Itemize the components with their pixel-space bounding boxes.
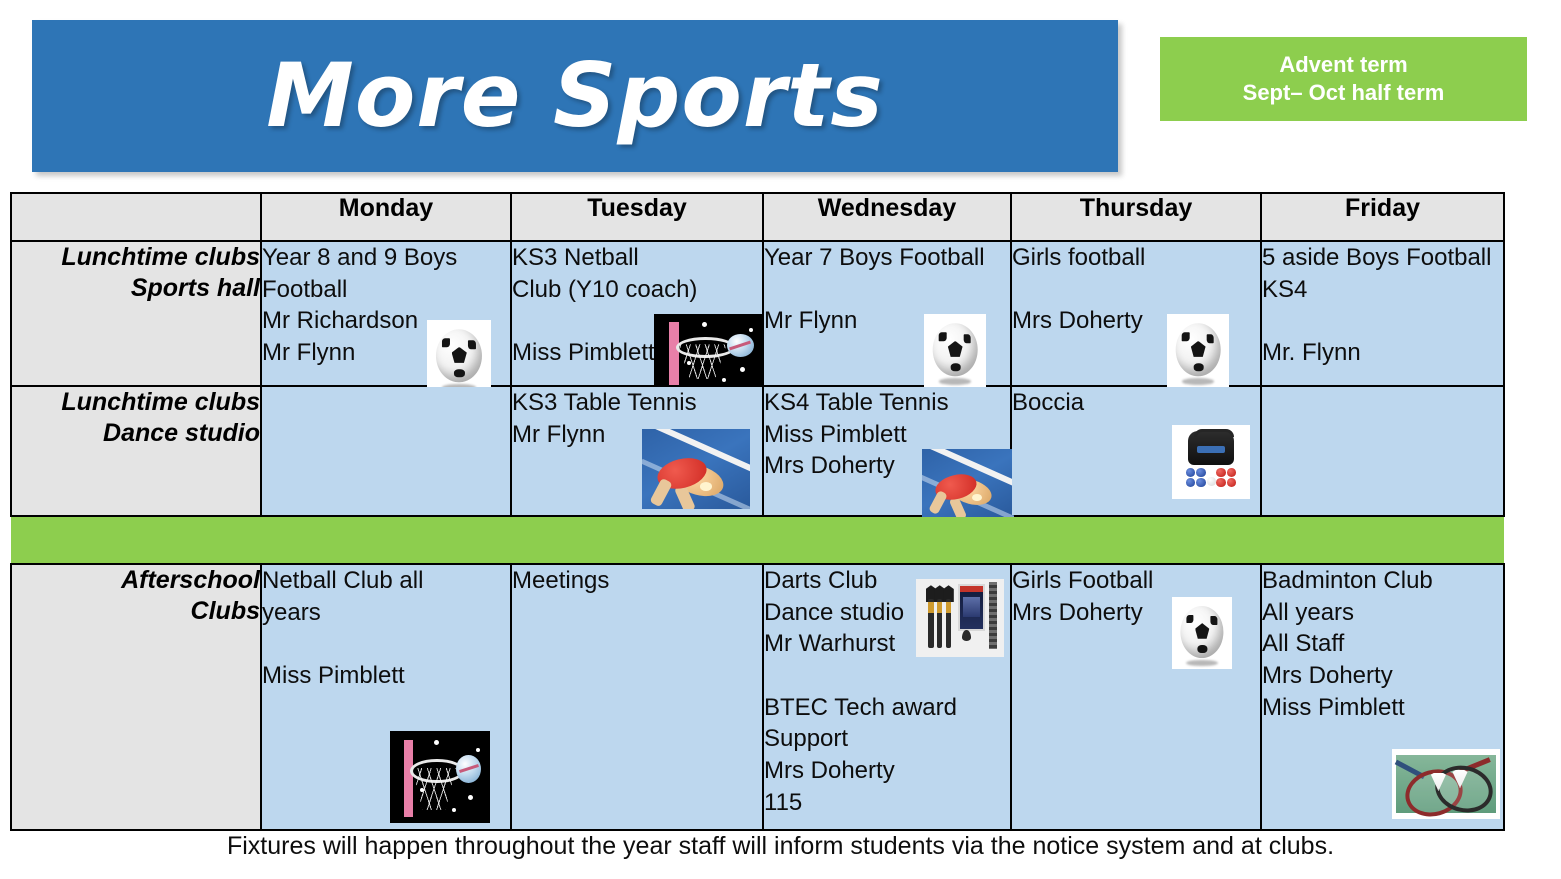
cell-monday-dance-studio[interactable]	[261, 386, 511, 516]
cell-monday-afterschool[interactable]: Netball Club all years Miss Pimblett	[261, 564, 511, 830]
cell-text-line: 115	[764, 787, 1010, 819]
cell-text-line: Football	[262, 274, 510, 306]
cell-wednesday-dance-studio[interactable]: KS4 Table Tennis Miss Pimblett Mrs Doher…	[763, 386, 1011, 516]
cell-text-line: KS3 Table Tennis	[512, 387, 762, 419]
schedule-table: Monday Tuesday Wednesday Thursday Friday…	[10, 192, 1505, 831]
row-label-line-2: Dance studio	[12, 418, 260, 449]
cell-text-line: Miss Pimblett	[1262, 692, 1503, 724]
cell-text-line: Miss Pimblett	[262, 660, 510, 692]
soccer-ball-image	[1167, 314, 1229, 388]
cell-text-line: Mr. Flynn	[1262, 337, 1503, 369]
cell-text-line: Year 7 Boys Football	[764, 242, 1010, 274]
badminton-image	[1392, 749, 1500, 819]
term-badge: Advent term Sept– Oct half term	[1160, 37, 1527, 121]
green-divider-cell	[11, 516, 1504, 564]
cell-text-line: All years	[1262, 597, 1503, 629]
cell-tuesday-dance-studio[interactable]: KS3 Table Tennis Mr Flynn	[511, 386, 763, 516]
darts-set-image	[916, 579, 1004, 657]
cell-text-line: BTEC Tech award	[764, 692, 1010, 724]
cell-friday-dance-studio[interactable]	[1261, 386, 1504, 516]
table-header-row: Monday Tuesday Wednesday Thursday Friday	[11, 193, 1504, 241]
cell-text-line: Club (Y10 coach)	[512, 274, 762, 306]
cell-tuesday-afterschool[interactable]: Meetings	[511, 564, 763, 830]
row-label-line-1: Lunchtime clubs	[12, 242, 260, 273]
table-row: Afterschool Clubs Netball Club all years…	[11, 564, 1504, 830]
cell-text-line: Mrs Doherty	[764, 755, 1010, 787]
cell-text-line: Girls football	[1012, 242, 1260, 274]
table-row: Lunchtime clubs Sports hall Year 8 and 9…	[11, 241, 1504, 386]
column-header-monday: Monday	[261, 193, 511, 241]
column-header-thursday: Thursday	[1011, 193, 1261, 241]
page-title: More Sports	[266, 52, 883, 140]
term-badge-line-1: Advent term	[1279, 53, 1407, 77]
row-label-afterschool-clubs: Afterschool Clubs	[11, 564, 261, 830]
cell-text-line: Mrs Doherty	[1262, 660, 1503, 692]
table-tennis-image	[642, 429, 750, 509]
row-label-line-1: Afterschool	[12, 565, 260, 596]
title-banner: More Sports	[32, 20, 1118, 172]
cell-text-line: KS4	[1262, 274, 1503, 306]
cell-thursday-dance-studio[interactable]: Boccia	[1011, 386, 1261, 516]
row-label-line-2: Clubs	[12, 596, 260, 627]
boccia-set-image	[1172, 425, 1250, 499]
soccer-ball-image	[1172, 597, 1232, 669]
cell-friday-afterschool[interactable]: Badminton Club All years All Staff Mrs D…	[1261, 564, 1504, 830]
table-tennis-image	[922, 449, 1014, 517]
cell-wednesday-sports-hall[interactable]: Year 7 Boys Football Mr Flynn	[763, 241, 1011, 386]
cell-thursday-sports-hall[interactable]: Girls football Mrs Doherty	[1011, 241, 1261, 386]
cell-text-line: years	[262, 597, 510, 629]
soccer-ball-image	[427, 320, 491, 394]
cell-wednesday-afterschool[interactable]: Darts Club Dance studio Mr Warhurst BTEC…	[763, 564, 1011, 830]
cell-text-line: Netball Club all	[262, 565, 510, 597]
cell-monday-sports-hall[interactable]: Year 8 and 9 Boys Football Mr Richardson…	[261, 241, 511, 386]
column-header-tuesday: Tuesday	[511, 193, 763, 241]
term-badge-line-2: Sept– Oct half term	[1243, 81, 1445, 105]
row-label-line-2: Sports hall	[12, 273, 260, 304]
cell-text-line: Meetings	[512, 565, 762, 597]
cell-text-line: 5 aside Boys Football	[1262, 242, 1503, 274]
column-header-friday: Friday	[1261, 193, 1504, 241]
netball-hoop-image	[654, 314, 764, 390]
cell-tuesday-sports-hall[interactable]: KS3 Netball Club (Y10 coach) Miss Pimble…	[511, 241, 763, 386]
footer-note: Fixtures will happen throughout the year…	[0, 832, 1561, 861]
cell-text-line: Support	[764, 723, 1010, 755]
cell-text-line: Badminton Club	[1262, 565, 1503, 597]
cell-text-line: All Staff	[1262, 628, 1503, 660]
row-label-line-1: Lunchtime clubs	[12, 387, 260, 418]
cell-text-line: KS3 Netball	[512, 242, 762, 274]
cell-friday-sports-hall[interactable]: 5 aside Boys Football KS4 Mr. Flynn	[1261, 241, 1504, 386]
cell-text-line: Year 8 and 9 Boys	[262, 242, 510, 274]
cell-thursday-afterschool[interactable]: Girls Football Mrs Doherty	[1011, 564, 1261, 830]
cell-text-line: Boccia	[1012, 387, 1260, 419]
row-label-lunchtime-sports-hall: Lunchtime clubs Sports hall	[11, 241, 261, 386]
cell-text-line: KS4 Table Tennis	[764, 387, 1010, 419]
corner-cell	[11, 193, 261, 241]
cell-text-line: Miss Pimblett	[764, 419, 1010, 451]
netball-hoop-image	[390, 731, 490, 823]
row-label-lunchtime-dance-studio: Lunchtime clubs Dance studio	[11, 386, 261, 516]
soccer-ball-image	[924, 314, 986, 388]
column-header-wednesday: Wednesday	[763, 193, 1011, 241]
table-row: Lunchtime clubs Dance studio KS3 Table T…	[11, 386, 1504, 516]
cell-text-line: Girls Football	[1012, 565, 1260, 597]
green-divider-row	[11, 516, 1504, 564]
